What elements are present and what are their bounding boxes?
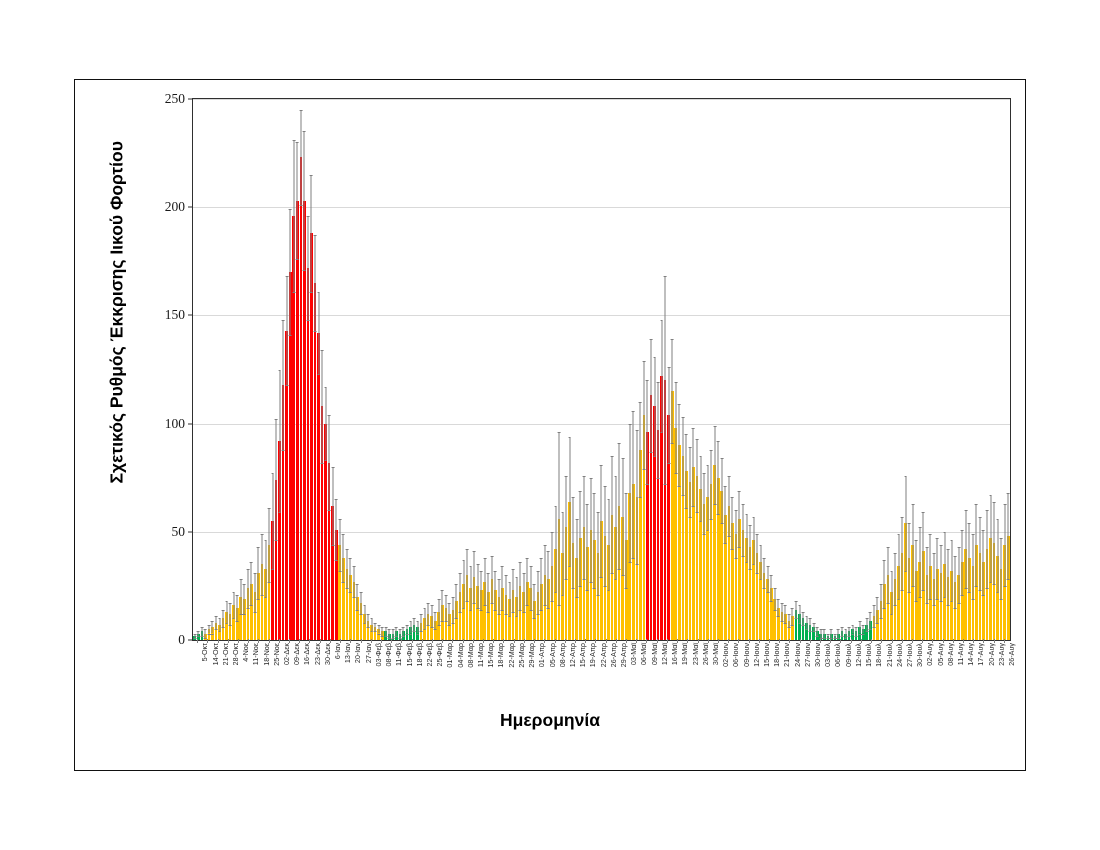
x-tick-label: 26-Απρ [609,643,618,667]
y-axis-title: Σχετικός Ρυθμός Έκκρισης Ιικού Φορτίου [107,154,128,484]
error-bar-line [951,540,952,601]
error-bar-line [339,519,340,571]
error-bar-line [322,350,323,463]
error-bar-line [1001,538,1002,599]
error-bar-line [693,428,694,506]
error-bar-line [909,523,910,592]
error-bar-line [438,599,439,625]
error-bar-line [796,601,797,618]
error-bar-line [244,584,245,614]
x-tick-label: 17-Αυγ [976,643,985,666]
x-tick-label: 06-Ιουλ [833,643,842,667]
error-bar-line [325,387,326,461]
error-bar-line [346,549,347,588]
error-bar-line [880,584,881,619]
x-tick-label: 18-Ιουν [772,643,781,667]
error-bar-line [955,556,956,608]
error-bar-line [965,510,966,588]
error-bar-line [682,417,683,495]
error-bar-line [902,517,903,591]
x-tick-label: 19-Μαϊ [680,643,689,665]
error-bar-line [336,499,337,560]
error-bar-line [841,627,842,636]
x-tick-mark [983,639,984,643]
error-bar-line [969,523,970,592]
x-tick-mark [401,639,402,643]
error-bar-line [891,571,892,614]
x-tick-mark [575,639,576,643]
x-tick-mark [514,639,515,643]
error-bar-line [566,476,567,580]
error-bar-line [297,142,298,259]
error-bar-line [668,367,669,462]
error-bar-line [654,357,655,457]
x-tick-label: 23-Μαϊ [691,643,700,665]
x-tick-mark [881,639,882,643]
x-tick-mark [749,639,750,643]
error-bar-line [424,608,425,630]
bar-slot [1006,99,1010,640]
x-tick-mark [350,639,351,643]
x-tick-label: 06-Ιουν [731,643,740,667]
error-bar-line [551,532,552,601]
error-bar-line [1004,504,1005,586]
error-bar-cap-lower [1007,579,1010,580]
error-bar-line [406,625,407,634]
x-tick-mark [871,639,872,643]
error-bar-line [382,627,383,636]
x-tick-label: 14-Αυγ [966,643,975,666]
error-bar-line [895,553,896,605]
x-tick-mark [912,639,913,643]
error-bar-line [590,478,591,582]
error-bar-line [597,512,598,594]
x-tick-mark [452,639,453,643]
error-bar-line [488,573,489,612]
error-bar-line [866,618,867,631]
error-bar-line [509,582,510,617]
x-tick-mark [892,639,893,643]
x-tick-mark [442,639,443,643]
error-bar-line [742,504,743,556]
error-bar-line [269,508,270,582]
error-bar-line [750,525,751,568]
error-bar-line [626,493,627,588]
error-bar-line [856,627,857,636]
error-bar-line [948,549,949,605]
x-tick-label: 28-Οκτ [231,643,240,665]
error-bar-line [435,612,436,629]
error-bar-line [399,629,400,638]
x-tick-mark [248,639,249,643]
x-tick-mark [197,639,198,643]
error-bar-line [495,571,496,610]
error-bar-line [442,590,443,620]
error-bar-line [304,131,305,269]
x-tick-label: 15-Ιουν [762,643,771,667]
x-tick-mark [493,639,494,643]
error-bar-line [237,595,238,621]
error-bar-line [767,566,768,592]
error-bar-line [799,605,800,622]
error-bar-line [916,540,917,601]
error-bar-line [414,618,415,631]
x-tick-label: 24-Ιουλ [895,643,904,667]
error-bar-line [530,566,531,609]
x-tick-mark [432,639,433,643]
error-bar-line [491,556,492,604]
error-bar-line [541,558,542,610]
error-bar-line [640,402,641,497]
error-bar-line [873,605,874,627]
x-tick-mark [677,639,678,643]
error-bar-line [926,547,927,603]
error-bar-line [884,560,885,608]
x-tick-label: 02-Δεκ [282,643,291,665]
x-tick-label: 20-Αυγ [987,643,996,666]
y-tick-label: 150 [165,307,185,323]
error-bar-line [658,382,659,477]
error-bar-line [470,566,471,609]
x-tick-label: 12-Ιουν [752,643,761,667]
error-bar-line [665,276,666,484]
error-bar-line [233,592,234,618]
error-bar-line [329,415,330,510]
error-bar-line [636,430,637,564]
x-tick-label: 08-Μαρ [466,643,475,668]
x-tick-label: 27-Ιαν [364,643,373,663]
x-tick-label: 21-Ιουλ [885,643,894,667]
x-tick-label: 5-Οκτ [200,643,209,661]
x-tick-mark [330,639,331,643]
x-tick-mark [555,639,556,643]
x-tick-label: 03-Ιουλ [823,643,832,667]
x-tick-label: 30-Δεκ [323,643,332,665]
error-bar-line [523,573,524,612]
x-axis-title: Ημερομηνία [75,710,1025,731]
error-bar-line [958,547,959,603]
error-bar-line [859,621,860,634]
error-bar-line [311,175,312,292]
error-bar-line [622,458,623,575]
x-tick-mark [902,639,903,643]
error-bar-line [463,560,464,608]
error-bar-line [223,610,224,627]
x-tick-label: 21-Οκτ [221,643,230,665]
error-bar-line [481,571,482,610]
x-tick-mark [258,639,259,643]
error-bar-line [831,629,832,638]
x-tick-label: 06-Μαϊ [639,643,648,665]
error-bar-line [997,519,998,593]
error-bar-line [215,616,216,629]
error-bar-line [286,276,287,384]
x-tick-mark [361,639,362,643]
error-bar-line [559,432,560,605]
error-bar-line [516,577,517,616]
error-bar-line [279,370,280,513]
error-bar-line [601,465,602,578]
error-bar-line [976,504,977,586]
x-tick-mark [371,639,372,643]
x-tick-label: 4-Νοε [241,643,250,662]
x-tick-mark [1004,639,1005,643]
error-bar-line [583,476,584,580]
x-tick-mark [708,639,709,643]
x-tick-mark [973,639,974,643]
x-tick-label: 18-Νοε [262,643,271,666]
error-bar-line [651,339,652,452]
error-bar-line [573,497,574,588]
error-bar-line [212,621,213,634]
x-tick-label: 02-Αυγ [925,643,934,666]
error-bar-line [774,588,775,610]
x-tick-mark [534,639,535,643]
error-bar-line [513,569,514,612]
error-bar-line [615,476,616,580]
x-tick-mark [503,639,504,643]
error-bar-line [979,517,980,591]
error-bar-line [520,562,521,610]
error-bar-line [983,530,984,595]
error-bar-line [219,618,220,631]
x-tick-mark [698,639,699,643]
x-tick-label: 15-Απρ [578,643,587,667]
error-bar-line [990,495,991,582]
error-bar-line [392,629,393,638]
error-bar-line [403,627,404,636]
x-tick-label: 6-Ιαν [333,643,342,659]
error-bar-line [261,534,262,595]
x-tick-label: 12-Απρ [568,643,577,667]
error-bar-line [251,562,252,605]
error-bar-line [605,486,606,586]
x-tick-mark [289,639,290,643]
error-bar-line [240,579,241,614]
error-bar-line [612,456,613,573]
x-tick-mark [606,639,607,643]
x-tick-label: 13-Ιαν [343,643,352,663]
error-bar-line [739,491,740,547]
x-tick-mark [840,639,841,643]
x-tick-label: 05-Απρ [548,643,557,667]
error-bar-line [353,566,354,596]
x-tick-label: 12-Μαϊ [660,643,669,665]
error-bar-line [368,614,369,627]
x-tick-mark [830,639,831,643]
error-bar-line [696,439,697,513]
x-tick-mark [309,639,310,643]
x-tick-label: 30-Ιουλ [915,643,924,667]
x-tick-mark [636,639,637,643]
error-bar-line [753,517,754,565]
x-tick-mark [218,639,219,643]
error-bar-line [679,404,680,486]
x-tick-mark [544,639,545,643]
x-tick-mark [269,639,270,643]
x-tick-mark [279,639,280,643]
error-bar-line [771,575,772,601]
error-bar-line [887,547,888,603]
error-bar-line [431,605,432,627]
x-tick-label: 01-Απρ [537,643,546,667]
x-tick-mark [789,639,790,643]
x-tick-mark [595,639,596,643]
error-bar-line [343,534,344,582]
error-bar-line [428,603,429,625]
x-tick-label: 21-Ιουν [782,643,791,667]
error-bar-line [226,601,227,623]
x-tick-label: 08-Απρ [558,643,567,667]
bars-layer [193,99,1010,640]
x-tick-mark [585,639,586,643]
error-bar-line [594,493,595,588]
error-bar-line [629,424,630,562]
error-bar-line [474,551,475,603]
x-tick-label: 22-Απρ [599,643,608,667]
error-bar-line [445,595,446,621]
x-tick-mark [779,639,780,643]
error-bar-line [544,545,545,606]
x-tick-mark [994,639,995,643]
error-bar-line [760,545,761,580]
error-bar-line [870,612,871,629]
x-tick-label: 04-Μαρ [456,643,465,668]
error-bar-line [849,627,850,636]
error-bar-line [689,447,690,516]
y-tick-label: 250 [165,91,185,107]
error-bar-line [788,614,789,627]
x-tick-mark [524,639,525,643]
x-tick-mark [820,639,821,643]
x-tick-label: 15-Φεβ [405,643,414,666]
error-bar-line [633,411,634,558]
error-bar-line [389,629,390,638]
error-bar-line [746,514,747,562]
error-bar-line [230,603,231,625]
error-bar-line [757,534,758,573]
error-bar-line [700,456,701,521]
error-bar-line [205,629,206,638]
error-bar-line [258,547,259,599]
error-bar-line [718,441,719,515]
x-tick-label: 11-Μαρ [476,643,485,667]
error-bar-line [672,339,673,443]
error-bar-line [548,551,549,607]
error-bar-line [845,629,846,638]
x-tick-label: 30-Μαϊ [711,643,720,665]
x-tick-label: 30-Ιουν [813,643,822,667]
x-tick-label: 26-Μαϊ [701,643,710,665]
x-tick-mark [207,639,208,643]
error-bar-line [643,361,644,469]
error-bar-line [580,491,581,586]
error-bar-line [711,450,712,519]
x-tick-label: 08-Αυγ [946,643,955,666]
error-bar-line [569,437,570,567]
x-tick-label: 25-Μαρ [517,643,526,668]
plot-area: 050100150200250 [192,98,1011,641]
error-bar-line [647,380,648,484]
x-axis-tick-labels: 5-Οκτ14-Οκτ21-Οκτ28-Οκτ4-Νοε11-Νοε18-Νοε… [192,643,1011,709]
error-bar-line [619,443,620,569]
x-tick-mark [657,639,658,643]
x-tick-mark [422,639,423,643]
error-bar-line [806,616,807,629]
error-bar-line [456,584,457,619]
x-tick-mark [463,639,464,643]
error-bar-line [820,629,821,638]
error-bar-line [371,618,372,631]
x-tick-mark [238,639,239,643]
x-tick-label: 15-Ιουλ [864,643,873,667]
x-tick-label: 16-Δεκ [302,643,311,665]
error-bar-line [332,467,333,545]
x-tick-label: 03-Μαϊ [629,643,638,665]
x-tick-label: 18-Φεβ [415,643,424,666]
error-bar-line [686,434,687,508]
x-tick-mark [616,639,617,643]
error-bar-line [293,140,294,291]
x-tick-mark [932,639,933,643]
x-tick-mark [228,639,229,643]
error-bar-line [385,627,386,636]
error-bar-line [972,534,973,599]
error-bar-line [735,510,736,558]
error-bar-line [813,623,814,632]
error-bar-line [608,499,609,590]
x-tick-label: 26-Αυγ [1007,643,1016,666]
error-bar-line [778,599,779,616]
error-bar-line [555,506,556,593]
error-bar-line [923,512,924,590]
error-bar-line [905,476,906,571]
error-bar-line [417,621,418,634]
x-tick-label: 25-Φεβ [435,643,444,666]
x-tick-mark [963,639,964,643]
x-tick-mark [340,639,341,643]
x-tick-mark [473,639,474,643]
error-bar-line [792,608,793,625]
error-bar-line [527,558,528,606]
error-bar-line [962,530,963,595]
error-bar-line [994,502,995,584]
error-bar-line [396,627,397,636]
x-tick-label: 27-Ιουν [803,643,812,667]
y-tick-label: 50 [172,524,186,540]
error-bar-line [357,584,358,610]
y-tick-label: 200 [165,199,185,215]
x-tick-label: 14-Οκτ [211,643,220,665]
x-tick-label: 29-Απρ [619,643,628,667]
error-bar-line [898,534,899,599]
x-tick-mark [646,639,647,643]
error-bar-line [912,504,913,586]
error-bar-line [360,592,361,614]
error-bar-line [410,621,411,634]
x-tick-mark [738,639,739,643]
x-tick-label: 20-Ιαν [353,643,362,663]
error-bar-line [838,629,839,638]
error-bar-line [364,605,365,622]
error-bar-line [315,235,316,330]
x-tick-label: 11-Νοε [251,643,260,665]
error-bar-line [452,597,453,623]
x-tick-mark [718,639,719,643]
error-bar-line [537,571,538,614]
error-bar-line [498,579,499,614]
x-tick-label: 08-Φεβ [384,643,393,666]
